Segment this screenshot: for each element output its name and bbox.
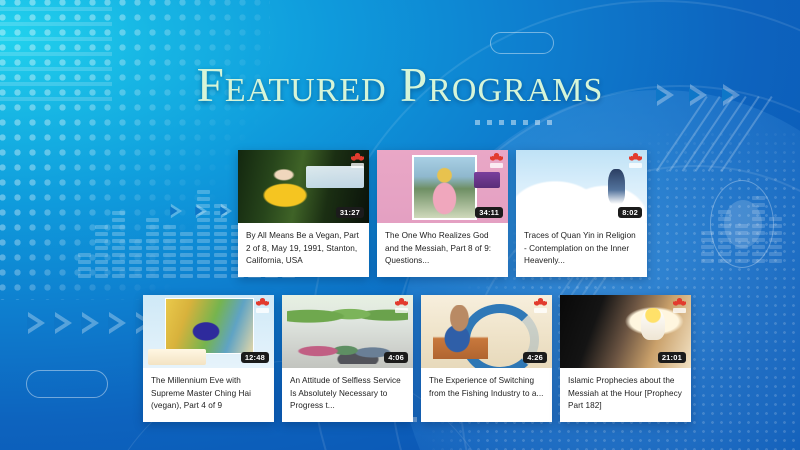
program-card[interactable]: 21:01 Islamic Prophecies about the Messi… [560, 295, 691, 422]
program-title: The Experience of Switching from the Fis… [429, 375, 545, 400]
program-thumbnail[interactable]: 12:48 [143, 295, 274, 368]
program-title: The One Who Realizes God and the Messiah… [385, 230, 501, 268]
program-thumbnail[interactable]: 34:11 [377, 150, 508, 223]
program-thumbnail[interactable]: 21:01 [560, 295, 691, 368]
duration-badge: 34:11 [475, 207, 503, 219]
program-title: By All Means Be a Vegan, Part 2 of 8, Ma… [246, 230, 362, 268]
play-triangle-icon [171, 204, 182, 219]
play-triangle-icon [28, 312, 45, 334]
supreme-master-tv-logo-icon [394, 298, 409, 315]
program-thumbnail[interactable]: 8:02 [516, 150, 647, 223]
ring-outline-icon [710, 180, 774, 268]
program-meta: Traces of Quan Yin in Religion - Contemp… [516, 223, 647, 277]
supreme-master-tv-logo-icon [255, 298, 270, 315]
play-triangle-icon [196, 204, 207, 219]
program-meta: Islamic Prophecies about the Messiah at … [560, 368, 691, 422]
featured-row-2: 12:48 The Millennium Eve with Supreme Ma… [143, 295, 691, 422]
program-card[interactable]: 4:06 An Attitude of Selfless Service Is … [282, 295, 413, 422]
program-card[interactable]: 4:26 The Experience of Switching from th… [421, 295, 552, 422]
duration-badge: 12:48 [241, 352, 269, 364]
program-card[interactable]: 12:48 The Millennium Eve with Supreme Ma… [143, 295, 274, 422]
program-meta: The Millennium Eve with Supreme Master C… [143, 368, 274, 422]
play-triangle-icon [109, 312, 126, 334]
supreme-master-tv-logo-icon [628, 153, 643, 170]
program-card[interactable]: 34:11 The One Who Realizes God and the M… [377, 150, 508, 277]
duration-badge: 8:02 [618, 207, 642, 219]
program-title: The Millennium Eve with Supreme Master C… [151, 375, 267, 413]
program-title: Traces of Quan Yin in Religion - Contemp… [524, 230, 640, 268]
duration-badge: 4:26 [523, 352, 547, 364]
program-meta: An Attitude of Selfless Service Is Absol… [282, 368, 413, 422]
program-title: Islamic Prophecies about the Messiah at … [568, 375, 684, 413]
program-meta: The Experience of Switching from the Fis… [421, 368, 552, 422]
pill-outline-bottom-icon [26, 370, 108, 398]
duration-badge: 4:06 [384, 352, 408, 364]
program-thumbnail[interactable]: 4:26 [421, 295, 552, 368]
program-thumbnail[interactable]: 4:06 [282, 295, 413, 368]
play-triangle-icon [82, 312, 99, 334]
program-card[interactable]: 31:27 By All Means Be a Vegan, Part 2 of… [238, 150, 369, 277]
page-title: Featured Programs [0, 60, 800, 109]
featured-row-1: 31:27 By All Means Be a Vegan, Part 2 of… [238, 150, 647, 277]
program-meta: By All Means Be a Vegan, Part 2 of 8, Ma… [238, 223, 369, 277]
duration-badge: 21:01 [658, 352, 686, 364]
supreme-master-tv-logo-icon [672, 298, 687, 315]
square-dots-right-icon [475, 120, 552, 125]
program-thumbnail[interactable]: 31:27 [238, 150, 369, 223]
program-card[interactable]: 8:02 Traces of Quan Yin in Religion - Co… [516, 150, 647, 277]
supreme-master-tv-logo-icon [533, 298, 548, 315]
pill-outline-top-icon [490, 32, 554, 54]
slide-canvas: Featured Programs 31:27 By All Means Be … [0, 0, 800, 450]
play-triangle-icon [55, 312, 72, 334]
play-triangle-icon [221, 204, 232, 219]
program-title: An Attitude of Selfless Service Is Absol… [290, 375, 406, 413]
program-meta: The One Who Realizes God and the Messiah… [377, 223, 508, 277]
duration-badge: 31:27 [336, 207, 364, 219]
supreme-master-tv-logo-icon [489, 153, 504, 170]
supreme-master-tv-logo-icon [350, 153, 365, 170]
